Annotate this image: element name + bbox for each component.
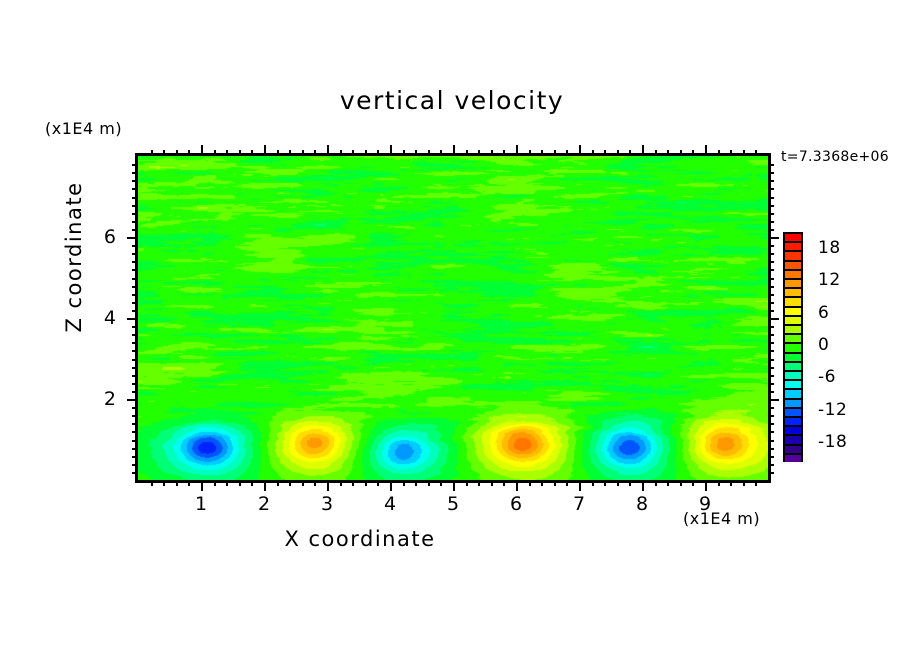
y-tick-minor	[132, 245, 138, 247]
x-tick-major	[579, 480, 581, 491]
colorbar-band	[783, 342, 803, 351]
colorbar-band	[783, 315, 803, 324]
x-tick-minor	[151, 480, 153, 486]
y-tick-major	[127, 318, 138, 320]
x-tick-top	[440, 150, 442, 156]
x-tick-top	[554, 150, 556, 156]
x-tick-minor	[440, 480, 442, 486]
y-tick-minor	[132, 278, 138, 280]
x-tick-minor	[340, 480, 342, 486]
y-tick-minor	[132, 286, 138, 288]
x-tick-minor	[655, 480, 657, 486]
x-tick-top	[151, 150, 153, 156]
x-tick-top	[390, 145, 392, 156]
y-tick-major	[127, 399, 138, 401]
x-tick-top	[705, 145, 707, 156]
colorbar-tick-label: 6	[818, 303, 829, 323]
y-tick-right	[768, 302, 774, 304]
y-tick-right	[768, 407, 774, 409]
contour-field	[138, 156, 768, 480]
x-tick-minor	[529, 480, 531, 486]
x-tick-minor	[428, 480, 430, 486]
y-tick-right	[768, 350, 774, 352]
x-tick-top	[541, 150, 543, 156]
y-tick-right	[768, 326, 774, 328]
x-tick-major	[264, 480, 266, 491]
x-tick-top	[629, 150, 631, 156]
x-tick-top	[264, 145, 266, 156]
y-tick-minor	[132, 261, 138, 263]
y-tick-minor	[132, 213, 138, 215]
x-tick-top	[516, 145, 518, 156]
x-tick-label: 7	[573, 493, 585, 515]
x-tick-minor	[554, 480, 556, 486]
y-axis-unit-label: (x1E4 m)	[45, 119, 122, 138]
x-tick-top	[579, 145, 581, 156]
y-tick-minor	[132, 431, 138, 433]
y-tick-minor	[132, 456, 138, 458]
x-tick-top	[340, 150, 342, 156]
y-tick-right	[768, 261, 774, 263]
x-tick-minor	[592, 480, 594, 486]
y-tick-major	[127, 237, 138, 239]
colorbar-tick-label: -18	[818, 432, 847, 452]
y-tick-minor	[132, 423, 138, 425]
x-tick-top	[239, 150, 241, 156]
x-tick-top	[592, 150, 594, 156]
y-tick-right	[768, 367, 774, 369]
y-tick-right	[768, 464, 774, 466]
x-tick-minor	[743, 480, 745, 486]
colorbar-band	[783, 370, 803, 379]
x-tick-label: 8	[636, 493, 648, 515]
x-tick-top	[617, 150, 619, 156]
x-tick-minor	[277, 480, 279, 486]
x-tick-minor	[491, 480, 493, 486]
y-tick-right	[768, 456, 774, 458]
y-tick-label: 6	[104, 226, 116, 248]
x-tick-minor	[617, 480, 619, 486]
x-tick-major	[453, 480, 455, 491]
y-tick-minor	[132, 269, 138, 271]
x-tick-minor	[503, 480, 505, 486]
y-tick-minor	[132, 350, 138, 352]
colorbar-band	[783, 232, 803, 241]
y-tick-minor	[132, 448, 138, 450]
x-tick-top	[718, 150, 720, 156]
colorbar-tick-label: 12	[818, 270, 841, 290]
y-tick-minor	[132, 310, 138, 312]
y-tick-minor	[132, 172, 138, 174]
colorbar-tick-label: -12	[818, 400, 847, 420]
y-tick-minor	[132, 197, 138, 199]
x-tick-minor	[466, 480, 468, 486]
x-tick-label: 3	[321, 493, 333, 515]
x-tick-minor	[415, 480, 417, 486]
y-tick-right	[768, 415, 774, 417]
y-tick-minor	[132, 164, 138, 166]
x-tick-top	[566, 150, 568, 156]
x-tick-major	[390, 480, 392, 491]
y-tick-minor	[132, 367, 138, 369]
y-tick-right	[768, 399, 779, 401]
x-tick-major	[516, 480, 518, 491]
x-tick-top	[692, 150, 694, 156]
colorbar-band	[783, 453, 803, 462]
x-tick-top	[680, 150, 682, 156]
y-tick-right	[768, 472, 774, 474]
y-tick-right	[768, 383, 774, 385]
x-tick-top	[604, 150, 606, 156]
x-tick-top	[377, 150, 379, 156]
x-tick-major	[642, 480, 644, 491]
x-tick-minor	[226, 480, 228, 486]
colorbar-band	[783, 287, 803, 296]
timestamp-annotation: t=7.3368e+06	[781, 149, 889, 165]
x-tick-top	[352, 150, 354, 156]
x-tick-major	[327, 480, 329, 491]
y-tick-minor	[132, 180, 138, 182]
colorbar-band	[783, 425, 803, 434]
y-tick-label: 4	[104, 307, 116, 329]
y-tick-minor	[132, 221, 138, 223]
colorbar-band	[783, 407, 803, 416]
x-tick-minor	[251, 480, 253, 486]
y-tick-right	[768, 359, 774, 361]
colorbar-band	[783, 306, 803, 315]
y-tick-minor	[132, 326, 138, 328]
colorbar-band	[783, 260, 803, 269]
colorbar-band	[783, 241, 803, 250]
y-tick-minor	[132, 188, 138, 190]
y-tick-right	[768, 334, 774, 336]
x-tick-minor	[214, 480, 216, 486]
x-tick-minor	[239, 480, 241, 486]
y-tick-right	[768, 269, 774, 271]
x-tick-minor	[730, 480, 732, 486]
x-tick-top	[642, 145, 644, 156]
y-tick-right	[768, 278, 774, 280]
y-tick-right	[768, 448, 774, 450]
x-tick-minor	[163, 480, 165, 486]
colorbar-legend	[783, 232, 803, 462]
y-tick-minor	[132, 407, 138, 409]
x-tick-minor	[176, 480, 178, 486]
x-tick-top	[289, 150, 291, 156]
y-tick-right	[768, 310, 774, 312]
y-tick-right	[768, 205, 774, 207]
y-tick-minor	[132, 375, 138, 377]
x-tick-label: 1	[195, 493, 207, 515]
x-tick-minor	[680, 480, 682, 486]
x-tick-label: 4	[384, 493, 396, 515]
x-tick-top	[466, 150, 468, 156]
y-tick-right	[768, 172, 774, 174]
x-tick-top	[403, 150, 405, 156]
x-tick-top	[755, 150, 757, 156]
colorbar-band	[783, 296, 803, 305]
x-tick-minor	[289, 480, 291, 486]
x-tick-top	[251, 150, 253, 156]
x-tick-top	[529, 150, 531, 156]
y-tick-minor	[132, 415, 138, 417]
colorbar-tick-label: 18	[818, 238, 841, 258]
x-tick-top	[176, 150, 178, 156]
y-tick-right	[768, 375, 774, 377]
x-tick-minor	[403, 480, 405, 486]
y-tick-right	[768, 286, 774, 288]
y-tick-minor	[132, 472, 138, 474]
x-tick-top	[226, 150, 228, 156]
x-tick-top	[415, 150, 417, 156]
y-tick-right	[768, 180, 774, 182]
y-tick-right	[768, 391, 774, 393]
x-tick-minor	[302, 480, 304, 486]
x-axis-title: X coordinate	[0, 527, 720, 551]
x-tick-top	[214, 150, 216, 156]
x-axis-unit-label: (x1E4 m)	[683, 509, 760, 528]
x-tick-top	[314, 150, 316, 156]
x-tick-minor	[629, 480, 631, 486]
y-tick-minor	[132, 342, 138, 344]
x-tick-top	[428, 150, 430, 156]
y-tick-right	[768, 229, 774, 231]
x-tick-top	[163, 150, 165, 156]
y-tick-minor	[132, 294, 138, 296]
colorbar-band	[783, 416, 803, 425]
y-tick-right	[768, 213, 774, 215]
y-tick-right	[768, 423, 774, 425]
x-tick-minor	[604, 480, 606, 486]
x-tick-top	[743, 150, 745, 156]
colorbar-band	[783, 444, 803, 453]
page-title: vertical velocity	[0, 86, 904, 115]
x-tick-top	[327, 145, 329, 156]
x-tick-top	[277, 150, 279, 156]
colorbar-band	[783, 278, 803, 287]
colorbar-band	[783, 434, 803, 443]
x-tick-top	[365, 150, 367, 156]
x-tick-top	[655, 150, 657, 156]
y-tick-minor	[132, 464, 138, 466]
x-tick-label: 2	[258, 493, 270, 515]
y-tick-minor	[132, 229, 138, 231]
x-tick-minor	[755, 480, 757, 486]
x-tick-top	[453, 145, 455, 156]
y-tick-right	[768, 164, 774, 166]
y-tick-minor	[132, 334, 138, 336]
x-tick-label: 5	[447, 493, 459, 515]
y-tick-right	[768, 440, 774, 442]
y-tick-minor	[132, 253, 138, 255]
colorbar-band	[783, 361, 803, 370]
x-tick-top	[188, 150, 190, 156]
x-tick-minor	[377, 480, 379, 486]
y-tick-right	[768, 431, 774, 433]
y-axis-title: Z coordinate	[62, 167, 86, 347]
y-tick-minor	[132, 440, 138, 442]
x-tick-top	[491, 150, 493, 156]
x-tick-top	[730, 150, 732, 156]
y-tick-right	[768, 294, 774, 296]
x-tick-minor	[478, 480, 480, 486]
x-tick-minor	[314, 480, 316, 486]
x-tick-major	[201, 480, 203, 491]
colorbar-tick-label: 0	[818, 335, 829, 355]
y-tick-minor	[132, 383, 138, 385]
x-tick-top	[667, 150, 669, 156]
y-tick-right	[768, 188, 774, 190]
x-tick-top	[478, 150, 480, 156]
x-tick-minor	[667, 480, 669, 486]
colorbar-band	[783, 250, 803, 259]
colorbar-band	[783, 398, 803, 407]
contour-plot-frame: 123456789246	[135, 153, 771, 483]
x-tick-minor	[718, 480, 720, 486]
y-tick-minor	[132, 302, 138, 304]
y-tick-right	[768, 221, 774, 223]
x-tick-minor	[188, 480, 190, 486]
y-tick-right	[768, 237, 779, 239]
y-tick-minor	[132, 359, 138, 361]
colorbar-band	[783, 352, 803, 361]
x-tick-major	[705, 480, 707, 491]
y-tick-right	[768, 318, 779, 320]
colorbar-band	[783, 388, 803, 397]
x-tick-minor	[352, 480, 354, 486]
y-tick-right	[768, 245, 774, 247]
colorbar-band	[783, 269, 803, 278]
x-tick-top	[302, 150, 304, 156]
y-tick-right	[768, 197, 774, 199]
colorbar-band	[783, 324, 803, 333]
x-tick-minor	[692, 480, 694, 486]
x-tick-top	[503, 150, 505, 156]
x-tick-minor	[365, 480, 367, 486]
colorbar-band	[783, 379, 803, 388]
y-tick-label: 2	[104, 388, 116, 410]
colorbar-band	[783, 333, 803, 342]
x-tick-minor	[541, 480, 543, 486]
x-tick-label: 9	[699, 493, 711, 515]
colorbar-tick-label: -6	[818, 367, 836, 387]
y-tick-minor	[132, 205, 138, 207]
x-tick-label: 6	[510, 493, 522, 515]
y-tick-right	[768, 342, 774, 344]
y-tick-minor	[132, 391, 138, 393]
y-tick-right	[768, 253, 774, 255]
x-tick-top	[201, 145, 203, 156]
x-tick-minor	[566, 480, 568, 486]
